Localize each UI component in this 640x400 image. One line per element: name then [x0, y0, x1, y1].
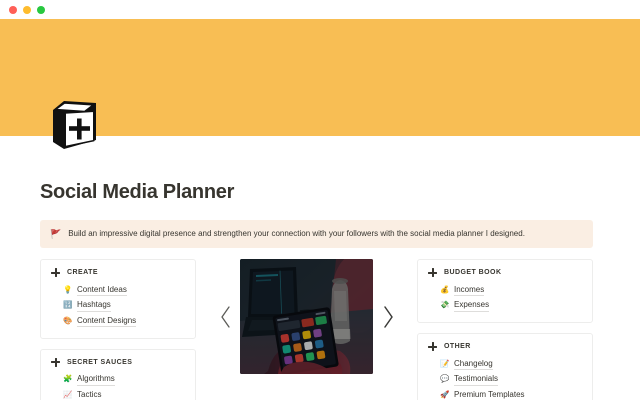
image-carousel: [218, 259, 395, 374]
card-secret-sauces: SECRET SAUCES 🧩 Algorithms 📈 Tactics ⏰ S…: [40, 349, 196, 400]
carousel-image[interactable]: [240, 259, 373, 374]
input-numbers-emoji: 🔢: [63, 300, 72, 310]
carousel-next-button[interactable]: [381, 304, 395, 330]
card-budget-book-header[interactable]: BUDGET BOOK: [428, 268, 582, 277]
card-secret-sauces-header[interactable]: SECRET SAUCES: [51, 358, 185, 367]
window-minimize-button[interactable]: [23, 6, 31, 14]
callout-block[interactable]: 🚩 Build an impressive digital presence a…: [40, 220, 593, 248]
page-content: Social Media Planner 🚩 Build an impressi…: [0, 180, 640, 400]
list-item-label[interactable]: Expenses: [454, 299, 489, 312]
list-item-label[interactable]: Testimonials: [454, 373, 498, 386]
card-secret-sauces-title: SECRET SAUCES: [67, 359, 132, 366]
list-item[interactable]: 💡 Content Ideas: [63, 282, 185, 298]
list-item-label[interactable]: Premium Templates: [454, 389, 525, 400]
memo-emoji: 📝: [440, 359, 449, 369]
card-create-title: CREATE: [67, 269, 98, 276]
card-other-header[interactable]: OTHER: [428, 342, 582, 351]
list-item[interactable]: 📝 Changelog: [440, 356, 582, 372]
plus-icon[interactable]: [51, 358, 60, 367]
list-item[interactable]: 🔢 Hashtags: [63, 298, 185, 314]
list-item-label[interactable]: Incomes: [454, 284, 484, 297]
card-secret-sauces-list: 🧩 Algorithms 📈 Tactics ⏰ Sharing Hours: [51, 372, 185, 400]
card-budget-book-list: 💰 Incomes 💸 Expenses: [428, 282, 582, 313]
card-other-list: 📝 Changelog 💬 Testimonials 🚀 Premium Tem…: [428, 356, 582, 400]
card-other: OTHER 📝 Changelog 💬 Testimonials 🚀 Premi…: [417, 333, 593, 400]
card-budget-book: BUDGET BOOK 💰 Incomes 💸 Expenses: [417, 259, 593, 323]
list-item-label[interactable]: Content Ideas: [77, 284, 127, 297]
plus-icon[interactable]: [428, 342, 437, 351]
right-column: BUDGET BOOK 💰 Incomes 💸 Expenses: [417, 259, 593, 400]
list-item[interactable]: 🧩 Algorithms: [63, 372, 185, 388]
list-item-label[interactable]: Hashtags: [77, 299, 111, 312]
list-item-label[interactable]: Changelog: [454, 358, 493, 371]
plus-icon[interactable]: [428, 268, 437, 277]
artist-palette-emoji: 🎨: [63, 316, 72, 326]
flag-emoji: 🚩: [50, 228, 61, 240]
window-maximize-button[interactable]: [37, 6, 45, 14]
puzzle-piece-emoji: 🧩: [63, 374, 72, 384]
money-with-wings-emoji: 💸: [440, 300, 449, 310]
lightbulb-emoji: 💡: [63, 285, 72, 295]
left-column: CREATE 💡 Content Ideas 🔢 Hashtags 🎨 Cont…: [40, 259, 196, 400]
list-item[interactable]: 🎨 Content Designs: [63, 313, 185, 329]
content-columns: CREATE 💡 Content Ideas 🔢 Hashtags 🎨 Cont…: [40, 259, 593, 400]
carousel-prev-button[interactable]: [218, 304, 232, 330]
rocket-emoji: 🚀: [440, 390, 449, 400]
list-item[interactable]: 📈 Tactics: [63, 387, 185, 400]
page-icon[interactable]: [50, 98, 100, 152]
list-item-label[interactable]: Tactics: [77, 389, 101, 400]
card-budget-book-title: BUDGET BOOK: [444, 269, 501, 276]
list-item[interactable]: 🚀 Premium Templates: [440, 387, 582, 400]
list-item[interactable]: 💬 Testimonials: [440, 372, 582, 388]
list-item[interactable]: 💰 Incomes: [440, 282, 582, 298]
list-item[interactable]: 💸 Expenses: [440, 298, 582, 314]
callout-text: Build an impressive digital presence and…: [68, 228, 525, 240]
card-create-list: 💡 Content Ideas 🔢 Hashtags 🎨 Content Des…: [51, 282, 185, 329]
window-close-button[interactable]: [9, 6, 17, 14]
card-other-title: OTHER: [444, 343, 471, 350]
money-bag-emoji: 💰: [440, 285, 449, 295]
list-item-label[interactable]: Content Designs: [77, 315, 136, 328]
speech-balloon-emoji: 💬: [440, 374, 449, 384]
page-title: Social Media Planner: [40, 180, 600, 204]
list-item-label[interactable]: Algorithms: [77, 373, 115, 386]
window-title-bar: [0, 0, 640, 19]
plus-icon[interactable]: [51, 268, 60, 277]
card-create-header[interactable]: CREATE: [51, 268, 185, 277]
chart-increasing-emoji: 📈: [63, 390, 72, 400]
card-create: CREATE 💡 Content Ideas 🔢 Hashtags 🎨 Cont…: [40, 259, 196, 339]
middle-column: [196, 259, 417, 374]
